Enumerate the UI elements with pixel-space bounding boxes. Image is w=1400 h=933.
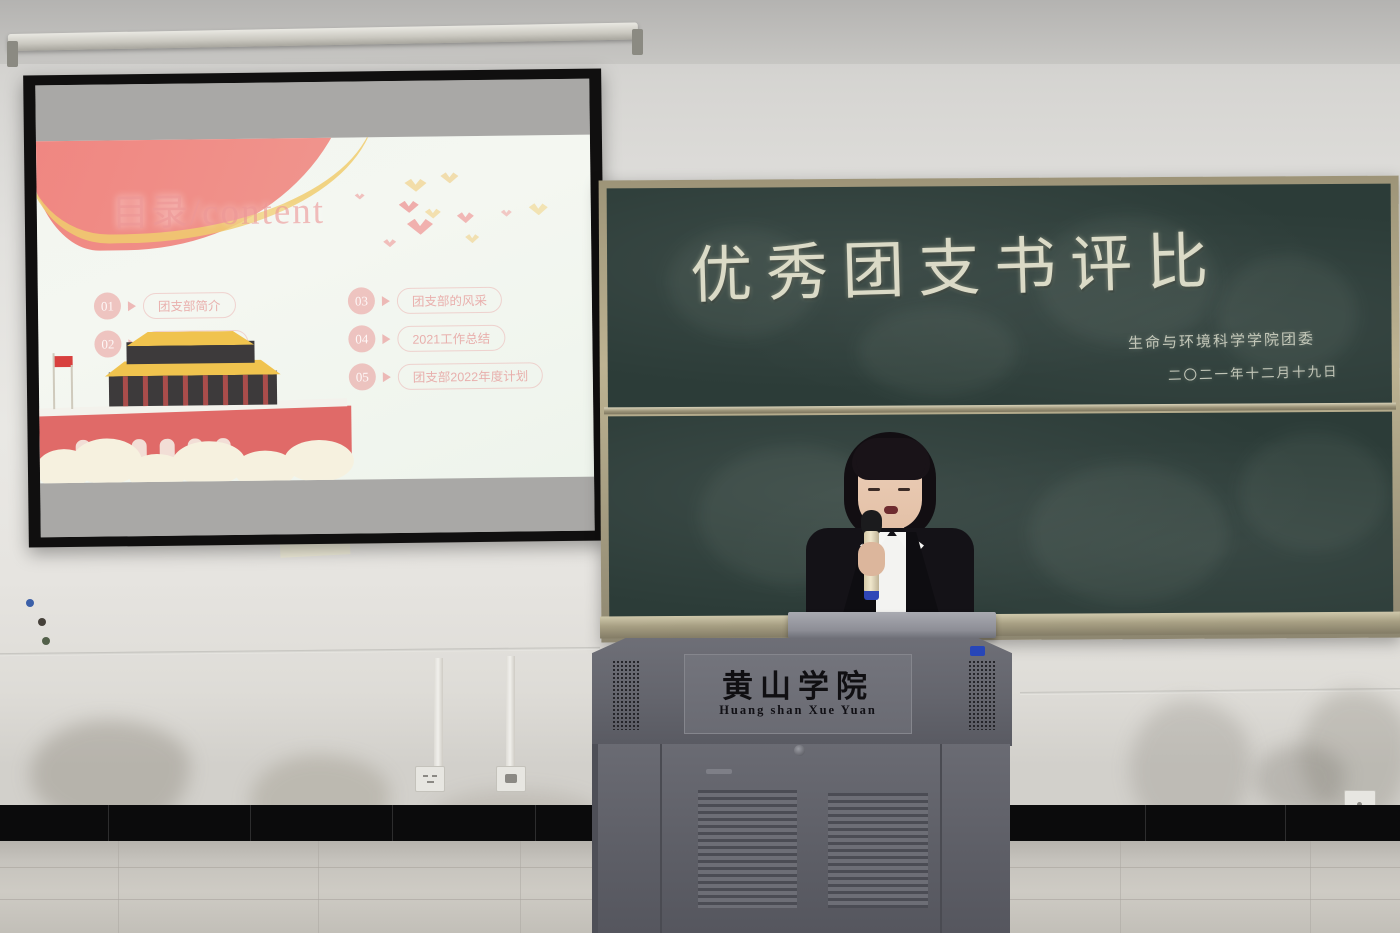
lectern-desktop <box>788 612 996 638</box>
blue-sticker <box>970 646 985 656</box>
institution-name-cn: 黄山学院 <box>685 661 911 706</box>
projection-screen: 目录/content 01 团支部简介 02 团支部的发展 03 <box>23 68 607 547</box>
electrical-conduit <box>506 656 515 768</box>
institution-name-en: Huang shan Xue Yuan <box>685 703 911 718</box>
chevron-right-icon <box>383 372 391 382</box>
roller-bracket-right <box>632 29 643 55</box>
cabinet-lock[interactable] <box>794 745 805 756</box>
toc-label: 团支部2022年度计划 <box>398 362 544 390</box>
screen-letterbox-bottom <box>40 477 595 538</box>
chevron-right-icon <box>382 334 390 344</box>
toc-label: 2021工作总结 <box>397 324 505 351</box>
wall-sticker <box>38 618 46 626</box>
cabinet-door-seam <box>940 744 942 933</box>
speaker-grille-right <box>968 660 995 730</box>
toc-label: 团支部的风采 <box>397 286 502 313</box>
vent-louver <box>866 793 928 908</box>
cabinet-handle[interactable] <box>706 769 732 774</box>
lectern-nameplate: 黄山学院 Huang shan Xue Yuan <box>684 654 912 734</box>
wall-sticker <box>42 637 50 645</box>
wall-outlet[interactable] <box>496 766 526 792</box>
screen-letterbox-top <box>35 79 590 142</box>
chevron-right-icon <box>128 301 136 311</box>
roller-bracket-left <box>7 41 18 67</box>
hair-fringe <box>856 460 926 480</box>
toc-number: 01 <box>94 292 121 319</box>
speaker-grille-left <box>612 660 639 730</box>
toc-label: 团支部简介 <box>143 291 236 318</box>
toc-item: 03 团支部的风采 <box>348 286 502 315</box>
presentation-slide: 目录/content 01 团支部简介 02 团支部的发展 03 <box>36 135 594 484</box>
toc-item: 04 2021工作总结 <box>348 324 505 353</box>
classroom-photo: 目录/content 01 团支部简介 02 团支部的发展 03 <box>0 0 1400 933</box>
blackboard-lower-panel <box>608 412 1393 635</box>
blackboard-heading: 优秀团支书评比 <box>689 207 1341 315</box>
wall-sticker <box>26 599 34 607</box>
mouth <box>884 506 898 514</box>
hand <box>858 542 885 576</box>
chevron-right-icon <box>382 296 390 306</box>
vent-louver <box>735 790 797 908</box>
speaker <box>806 432 974 624</box>
wall-outlet[interactable] <box>415 766 445 792</box>
toc-number: 03 <box>348 287 375 314</box>
toc-item: 05 团支部2022年度计划 <box>349 361 544 390</box>
eye-left <box>868 488 880 491</box>
toc-item: 01 团支部简介 <box>94 291 236 320</box>
screen-surface: 目录/content 01 团支部简介 02 团支部的发展 03 <box>35 79 594 538</box>
microphone-band <box>864 591 879 600</box>
eye-right <box>898 488 910 491</box>
cabinet-door-seam <box>660 744 662 933</box>
tiananmen-illustration <box>36 335 362 483</box>
blackboard-date: 二〇二一年十二月十九日 <box>1168 360 1339 384</box>
electrical-conduit <box>434 658 443 768</box>
